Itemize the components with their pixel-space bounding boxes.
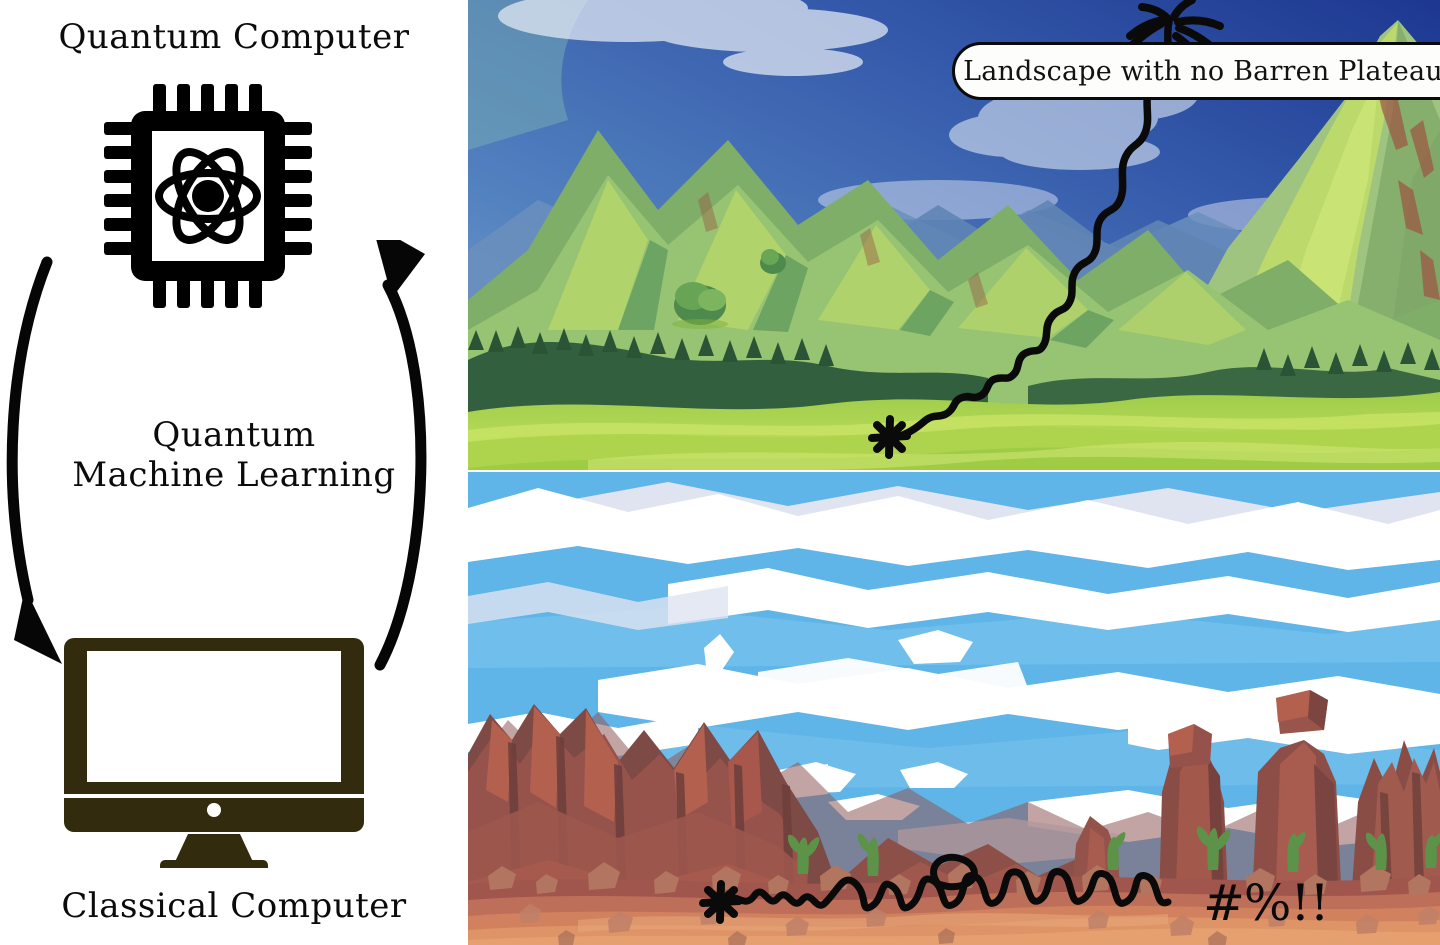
callout-no-barren-plateaus: Landscape with no Barren Plateaus	[952, 42, 1440, 100]
expletive-text: #%!!	[1203, 878, 1329, 928]
callout-no-barren-plateaus-text: Landscape with no Barren Plateaus	[959, 56, 1440, 87]
figure-root: Quantum Computer	[0, 0, 1440, 945]
desktop-monitor-icon	[64, 628, 364, 868]
quantum-ml-cycle-diagram: Quantum Computer	[0, 0, 468, 945]
quantum-machine-learning-label: Quantum Machine Learning	[0, 415, 468, 495]
classical-computer-label: Classical Computer	[0, 886, 468, 926]
cycle-label-line-1: Quantum	[152, 415, 315, 455]
panel-no-barren-plateaus: Landscape with no Barren Plateaus	[468, 0, 1440, 470]
cycle-label-line-2: Machine Learning	[0, 455, 468, 495]
quantum-computer-label: Quantum Computer	[0, 17, 468, 57]
